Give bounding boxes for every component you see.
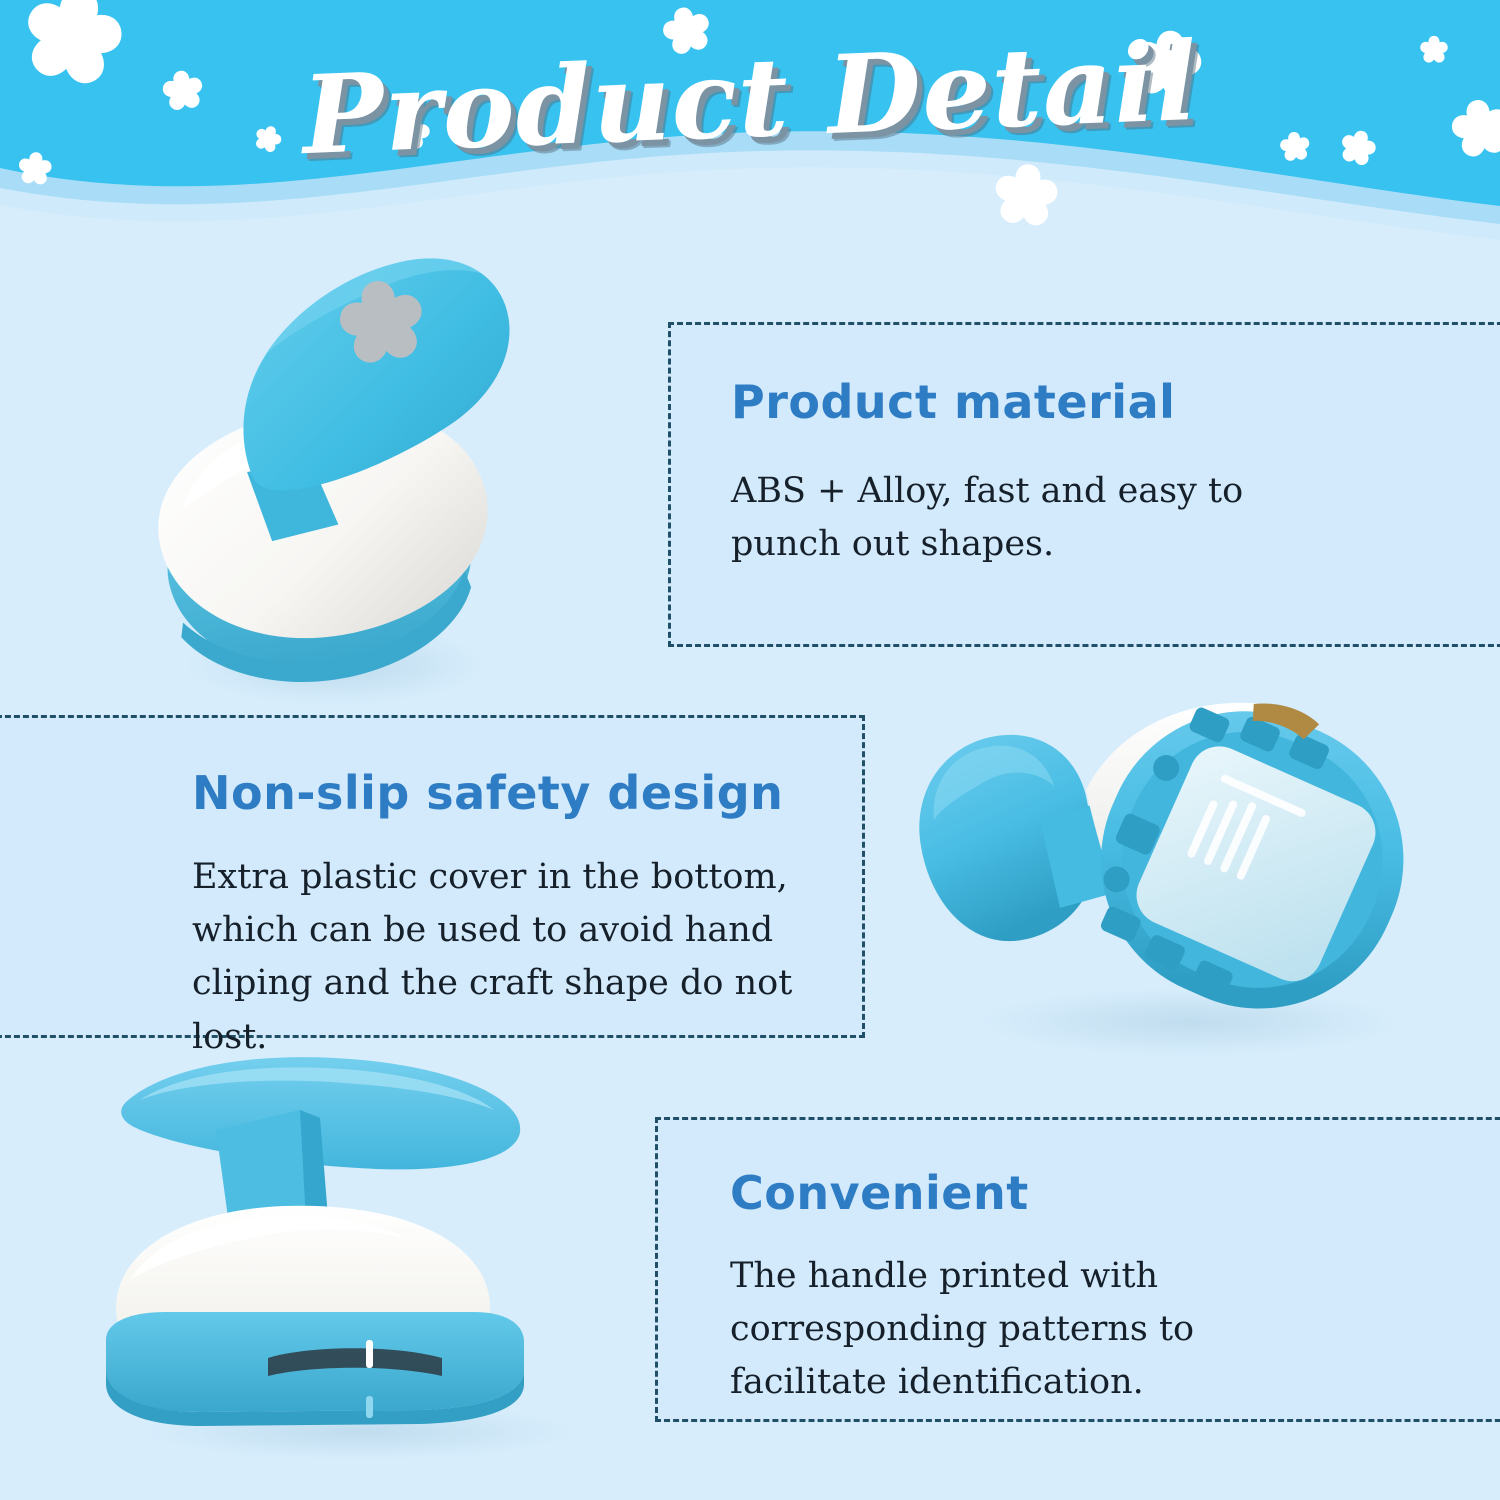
product-photo-bottom-view bbox=[890, 670, 1450, 1060]
info-box-heading: Non-slip safety design bbox=[192, 766, 783, 820]
info-box-body: The handle printed with corresponding pa… bbox=[730, 1250, 1310, 1410]
info-box-heading: Product material bbox=[731, 375, 1175, 429]
product-photo-top-angled-view bbox=[120, 215, 590, 715]
product-photo-side-view bbox=[70, 1040, 630, 1460]
info-box-product-material: Product material ABS + Alloy, fast and e… bbox=[668, 322, 1500, 647]
sakura-flower-icon bbox=[990, 160, 1062, 232]
info-box-body: Extra plastic cover in the bottom, which… bbox=[192, 851, 832, 1064]
info-box-heading: Convenient bbox=[730, 1166, 1029, 1220]
info-box-body: ABS + Alloy, fast and easy to punch out … bbox=[731, 465, 1251, 571]
info-box-convenient: Convenient The handle printed with corre… bbox=[655, 1117, 1500, 1422]
info-box-non-slip-safety-design: Non-slip safety design Extra plastic cov… bbox=[0, 715, 865, 1038]
